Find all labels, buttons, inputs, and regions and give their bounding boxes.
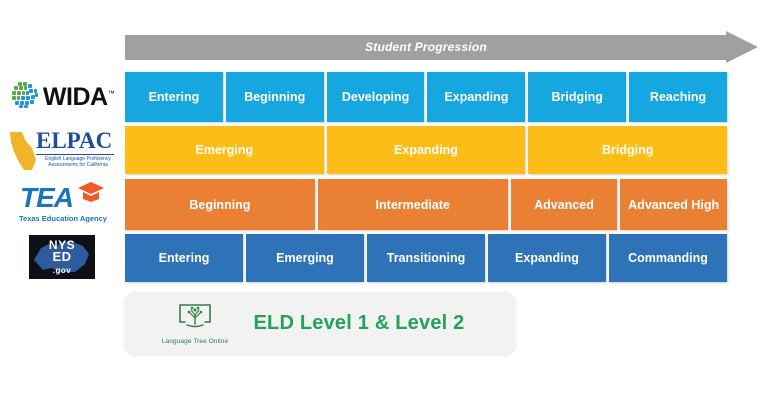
scale-segment-elpac-2: Expanding bbox=[327, 126, 526, 174]
scale-segment-label: Bridging bbox=[602, 143, 653, 157]
nysed-line-gov: .gov bbox=[53, 266, 71, 275]
progression-label: Student Progression bbox=[125, 35, 727, 60]
logo-wida: WIDA™ bbox=[2, 72, 122, 122]
scale-segment-label: Entering bbox=[149, 90, 200, 104]
scale-segment-label: Bridging bbox=[552, 90, 603, 104]
tea-subtitle: Texas Education Agency bbox=[12, 214, 114, 223]
nysed-line-ed: ED bbox=[52, 249, 71, 264]
scale-segment-label: Entering bbox=[159, 251, 210, 265]
logo-elpac: ELPAC English Language Proficiency Asses… bbox=[2, 124, 122, 174]
scale-segment-label: Expanding bbox=[394, 143, 458, 157]
progression-arrow-head-icon bbox=[726, 31, 758, 63]
scale-segment-label: Beginning bbox=[244, 90, 305, 104]
tea-wordmark: TEA bbox=[20, 182, 73, 214]
scale-segment-nysed-5: Commanding bbox=[609, 234, 727, 282]
eld-proficiency-alignment-chart: Student Progression bbox=[0, 0, 768, 404]
scale-row-elpac: EmergingExpandingBridging bbox=[125, 126, 727, 174]
scale-segment-label: Beginning bbox=[189, 198, 250, 212]
scale-row-nysed: EnteringEmergingTransitioningExpandingCo… bbox=[125, 234, 727, 282]
language-tree-online-name: Language Tree Online bbox=[162, 338, 228, 345]
wida-globe-icon bbox=[10, 80, 40, 115]
scale-segment-wida-5: Bridging bbox=[528, 72, 626, 122]
wida-wordmark: WIDA™ bbox=[43, 83, 114, 112]
scale-segment-nysed-3: Transitioning bbox=[367, 234, 485, 282]
scale-segment-nysed-1: Entering bbox=[125, 234, 243, 282]
scale-segment-label: Advanced bbox=[534, 198, 594, 212]
scale-segment-wida-2: Beginning bbox=[226, 72, 324, 122]
nysed-wordmark: NYS ED .gov bbox=[29, 239, 95, 277]
product-card[interactable]: Language Tree Online ELD Level 1 & Level… bbox=[125, 292, 515, 354]
scale-segment-label: Developing bbox=[342, 90, 409, 104]
scale-segment-label: Transitioning bbox=[387, 251, 465, 265]
scale-segment-label: Advanced High bbox=[628, 198, 719, 212]
scale-segment-nysed-2: Emerging bbox=[246, 234, 364, 282]
scale-row-tea: BeginningIntermediateAdvancedAdvanced Hi… bbox=[125, 179, 727, 230]
wida-trademark: ™ bbox=[108, 90, 115, 97]
scale-segment-label: Emerging bbox=[276, 251, 334, 265]
logo-nysed: NYS ED .gov bbox=[2, 231, 122, 283]
product-card-title: ELD Level 1 & Level 2 bbox=[243, 312, 475, 335]
language-tree-online-logo: Language Tree Online bbox=[147, 299, 243, 347]
elpac-subtitle-line2: Assessments for California bbox=[48, 162, 107, 168]
elpac-wordmark: ELPAC bbox=[36, 128, 112, 154]
scale-segment-tea-1: Beginning bbox=[125, 179, 315, 230]
scale-segment-label: Commanding bbox=[628, 251, 708, 265]
student-progression-arrow: Student Progression bbox=[125, 31, 758, 64]
scale-segment-wida-4: Expanding bbox=[427, 72, 525, 122]
scale-segment-wida-6: Reaching bbox=[629, 72, 727, 122]
scale-segment-wida-3: Developing bbox=[327, 72, 425, 122]
tree-screen-icon bbox=[176, 302, 214, 337]
scale-segment-elpac-3: Bridging bbox=[528, 126, 727, 174]
scale-segment-label: Intermediate bbox=[376, 198, 450, 212]
scale-segment-label: Reaching bbox=[650, 90, 706, 104]
scale-segment-label: Expanding bbox=[515, 251, 579, 265]
scale-row-wida: EnteringBeginningDevelopingExpandingBrid… bbox=[125, 72, 727, 122]
graduation-cap-icon bbox=[76, 181, 106, 208]
elpac-divider bbox=[36, 154, 114, 155]
california-state-icon bbox=[6, 130, 40, 177]
scale-segment-elpac-1: Emerging bbox=[125, 126, 324, 174]
scale-segment-tea-4: Advanced High bbox=[620, 179, 727, 230]
scale-segment-nysed-4: Expanding bbox=[488, 234, 606, 282]
scale-segment-tea-3: Advanced bbox=[511, 179, 618, 230]
scale-segment-wida-1: Entering bbox=[125, 72, 223, 122]
scale-segment-label: Emerging bbox=[196, 143, 254, 157]
scale-segment-label: Expanding bbox=[444, 90, 508, 104]
logo-tea: TEA Texas Education Agency bbox=[2, 178, 122, 230]
scale-segment-tea-2: Intermediate bbox=[318, 179, 508, 230]
elpac-subtitle: English Language Proficiency Assessments… bbox=[38, 156, 118, 168]
